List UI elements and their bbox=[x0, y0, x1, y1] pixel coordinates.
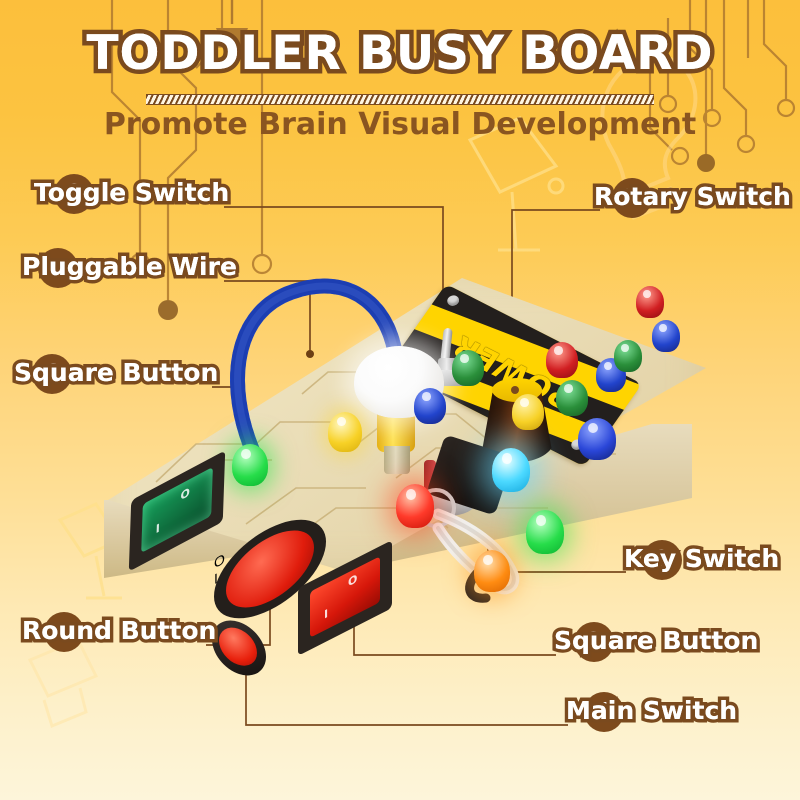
led-blue-2[interactable] bbox=[414, 388, 446, 424]
callout-1-label: Rotary Switch bbox=[594, 182, 791, 211]
led-red-1[interactable] bbox=[396, 484, 434, 528]
led-red-3[interactable] bbox=[636, 286, 664, 318]
led-green-4[interactable] bbox=[556, 380, 588, 416]
callout-8-label: Toggle Switch bbox=[34, 178, 229, 207]
poster-canvas: TODDLER BUSY BOARD TODDLER BUSY BOARD Pr… bbox=[0, 0, 800, 800]
page-title: TODDLER BUSY BOARD bbox=[0, 26, 800, 81]
callout-5-label: Round Button bbox=[22, 616, 216, 645]
callout-3-label: Square Button bbox=[554, 626, 758, 655]
callout-6: 6 Square Button Square Button bbox=[14, 358, 218, 387]
callout-4: 4 Main Switch Main Switch bbox=[566, 696, 737, 725]
page-subtitle: Promote Brain Visual Development bbox=[0, 107, 800, 142]
rocker-mark-on-red: I bbox=[324, 607, 328, 622]
led-green-3[interactable] bbox=[452, 350, 484, 386]
led-yellow-2[interactable] bbox=[512, 394, 544, 430]
callout-7-label: Pluggable Wire bbox=[22, 252, 237, 281]
led-red-2[interactable] bbox=[546, 342, 578, 378]
main-switch-button[interactable] bbox=[212, 613, 266, 683]
callout-1: 1 Rotary Switch Rotary Switch bbox=[594, 182, 791, 211]
rocker-mark-on-green: I bbox=[156, 521, 161, 536]
callout-5: 5 Round Button Round Button bbox=[22, 616, 216, 645]
led-green-2[interactable] bbox=[526, 510, 564, 554]
led-yellow-1[interactable] bbox=[328, 412, 362, 452]
callout-7: 7 Pluggable Wire Pluggable Wire bbox=[22, 252, 237, 281]
led-cyan-1[interactable] bbox=[492, 448, 530, 492]
poster-header: TODDLER BUSY BOARD TODDLER BUSY BOARD Pr… bbox=[0, 0, 800, 160]
callout-3: 3 Square Button Square Button bbox=[554, 626, 758, 655]
led-blue-4[interactable] bbox=[652, 320, 680, 352]
callout-2-label: Key Switch bbox=[624, 544, 779, 573]
led-orange-1[interactable] bbox=[474, 550, 510, 592]
led-green-5[interactable] bbox=[614, 340, 642, 372]
square-button-red-cap[interactable] bbox=[310, 556, 380, 638]
callout-4-label: Main Switch bbox=[566, 696, 737, 725]
led-blue-1[interactable] bbox=[578, 418, 616, 460]
callout-2: 2 Key Switch Key Switch bbox=[624, 544, 779, 573]
callout-8: 8 Toggle Switch Toggle Switch bbox=[34, 178, 229, 207]
led-green-1[interactable] bbox=[232, 444, 268, 486]
callout-6-label: Square Button bbox=[14, 358, 218, 387]
title-divider bbox=[146, 94, 654, 105]
main-switch-cap[interactable] bbox=[219, 623, 257, 671]
